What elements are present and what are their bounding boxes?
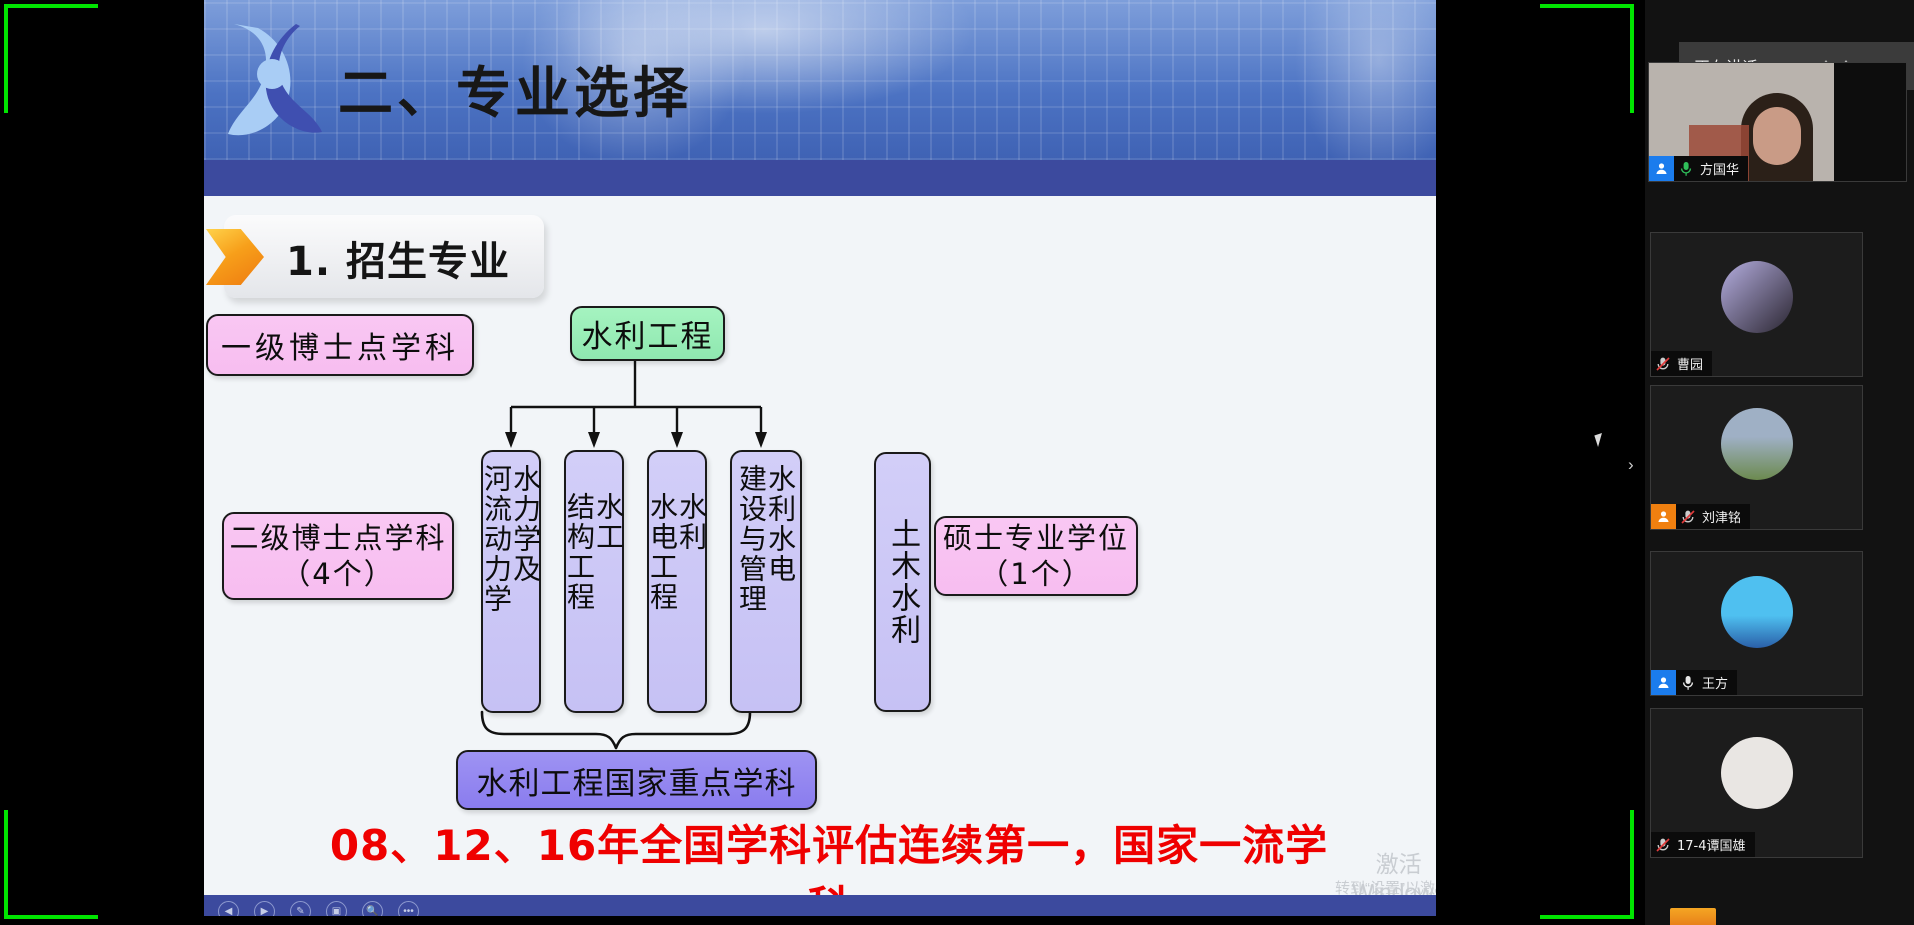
box-master-line1: 硕士专业学位 — [943, 520, 1129, 556]
box-master-line2: （1个） — [979, 556, 1092, 592]
box-civil-water-label: 土木水利 — [887, 518, 918, 646]
box-master-degree: 硕士专业学位 （1个） — [934, 516, 1138, 596]
participant-tile-4[interactable]: 17-4谭国雄 — [1650, 708, 1863, 858]
participant-badge-icon-3 — [1651, 670, 1676, 695]
prev-slide-icon[interactable]: ◀ — [218, 901, 239, 916]
taskbar-app-indicator[interactable] — [1670, 908, 1716, 925]
participant-badge-icon-2 — [1651, 504, 1676, 529]
share-corner-top-right — [1540, 4, 1634, 113]
share-corner-top-left — [4, 4, 98, 113]
participant-namebar-1: 曹园 — [1651, 351, 1712, 376]
avatar-1 — [1721, 261, 1793, 333]
banner-accent-band — [204, 160, 1436, 196]
box-civil-water: 土木水利 — [874, 452, 931, 712]
section-header-label: 1. 招生专业 — [286, 229, 510, 287]
box-level2-line2: （4个） — [281, 556, 394, 592]
participant-tile-0[interactable]: 方国华 — [1648, 62, 1907, 182]
box-child-0-col0: 水力学及 — [511, 464, 540, 584]
box-child-2: 水利 水电工程 — [647, 450, 707, 713]
participant-name-4: 17-4谭国雄 — [1675, 835, 1755, 854]
more-options-icon[interactable]: ••• — [398, 901, 419, 916]
box-child-0-col1: 河流动力学 — [482, 464, 511, 614]
participant-name-3: 王方 — [1700, 673, 1737, 692]
presentation-toolbar[interactable]: ◀ ▶ ✎ ▣ 🔍 ••• — [204, 895, 1436, 916]
box-child-3-col1: 建设与管理 — [737, 464, 766, 614]
participant-name-1: 曹园 — [1675, 354, 1712, 373]
participant-badge-icon-0 — [1649, 156, 1674, 181]
box-child-1-col1: 结构工程 — [565, 492, 594, 612]
mouse-cursor — [1594, 433, 1605, 447]
mic-off-icon-1 — [1651, 356, 1675, 372]
next-slide-icon[interactable]: ▶ — [254, 901, 275, 916]
presentation-slide: 二、专业选择 1. 招生专业 一级博士点学科 — [204, 0, 1436, 916]
participant-namebar-3: 王方 — [1651, 670, 1737, 695]
participant-namebar-2: 刘津铭 — [1651, 504, 1750, 529]
participant-tile-1[interactable]: 曹园 — [1650, 232, 1863, 377]
box-root-discipline: 水利工程 — [570, 306, 725, 361]
box-child-0: 水力学及 河流动力学 — [481, 450, 541, 713]
participant-name-2: 刘津铭 — [1700, 507, 1750, 526]
participant-tile-2[interactable]: 刘津铭 — [1650, 385, 1863, 530]
slide-title: 二、专业选择 — [338, 48, 692, 128]
slide-grid-icon[interactable]: ▣ — [326, 901, 347, 916]
participant-namebar-0: 方国华 — [1649, 156, 1748, 181]
mic-off-icon-2 — [1676, 509, 1700, 525]
box-level1-doctoral: 一级博士点学科 — [206, 314, 474, 376]
box-child-2-col1: 水电工程 — [648, 492, 677, 612]
avatar-2 — [1721, 408, 1793, 480]
zoom-icon[interactable]: 🔍 — [362, 901, 383, 916]
arrow-marker-icon — [206, 229, 264, 285]
section-header-plate: 1. 招生专业 — [224, 215, 544, 298]
mic-on-icon-0 — [1674, 161, 1698, 177]
pen-icon[interactable]: ✎ — [290, 901, 311, 916]
participant-name-0: 方国华 — [1698, 159, 1748, 178]
video-person-face — [1753, 107, 1801, 165]
mic-off-icon-4 — [1651, 837, 1675, 853]
box-child-3: 水利水电 建设与管理 — [730, 450, 802, 713]
box-level2-doctoral: 二级博士点学科 （4个） — [222, 512, 454, 600]
box-level2-line1: 二级博士点学科 — [229, 520, 446, 556]
share-corner-bottom-right — [1540, 810, 1634, 919]
avatar-3 — [1721, 576, 1793, 648]
share-corner-bottom-left — [4, 810, 98, 919]
box-key-discipline: 水利工程国家重点学科 — [456, 750, 817, 810]
decorative-ribbon-icon — [218, 14, 328, 144]
box-child-1: 水工 结构工程 — [564, 450, 624, 713]
box-child-2-col0: 水利 — [677, 492, 706, 552]
box-child-3-col0: 水利水电 — [766, 464, 795, 584]
avatar-4 — [1721, 737, 1793, 809]
participant-tile-3[interactable]: 王方 — [1650, 551, 1863, 696]
mic-on-icon-3 — [1676, 675, 1700, 691]
box-child-1-col0: 水工 — [594, 492, 623, 552]
panel-collapse-chevron-icon[interactable]: › — [1628, 455, 1634, 475]
screen: 二、专业选择 1. 招生专业 一级博士点学科 — [0, 0, 1914, 925]
participant-namebar-4: 17-4谭国雄 — [1651, 832, 1755, 857]
